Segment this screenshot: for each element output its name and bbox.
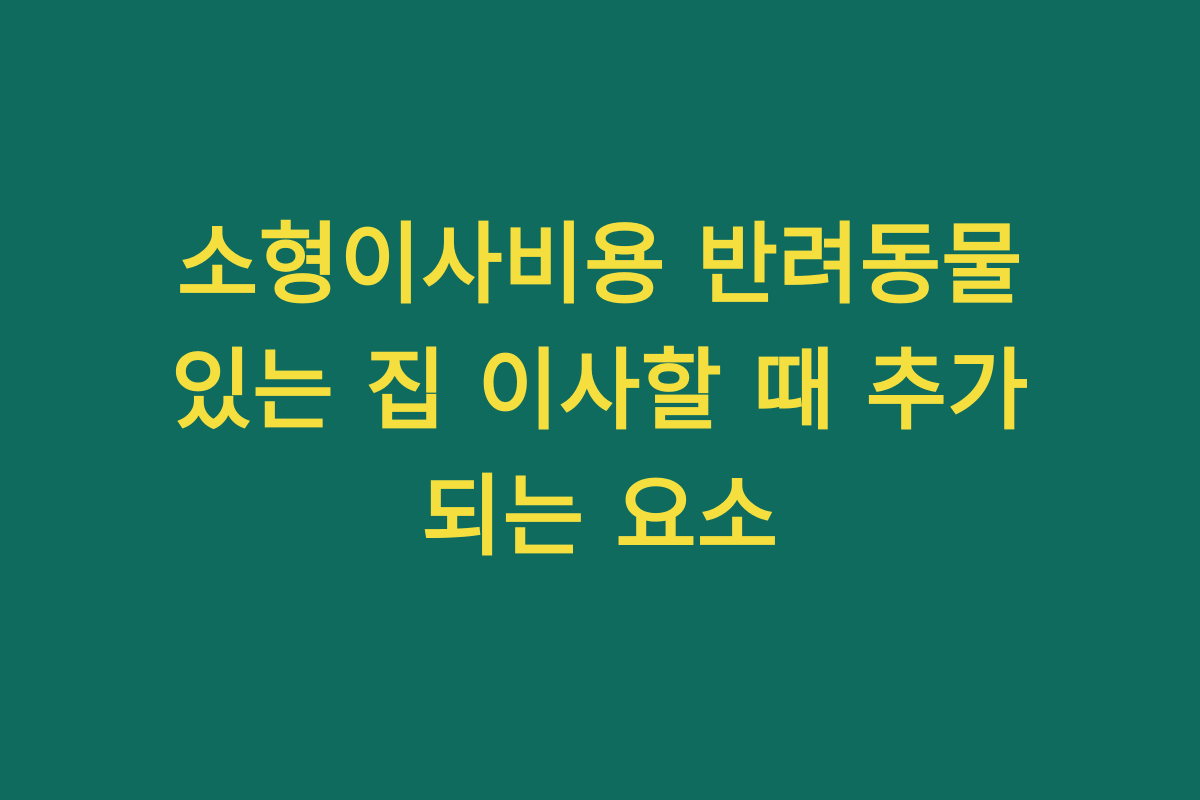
title-block: 소형이사비용 반려동물 있는 집 이사할 때 추가 되는 요소 — [70, 202, 1130, 580]
banner-canvas: 소형이사비용 반려동물 있는 집 이사할 때 추가 되는 요소 — [0, 0, 1200, 800]
title-line-1: 소형이사비용 반려동물 — [177, 202, 1023, 328]
title-line-3: 되는 요소 — [422, 454, 779, 580]
title-line-2: 있는 집 이사할 때 추가 — [171, 328, 1029, 454]
